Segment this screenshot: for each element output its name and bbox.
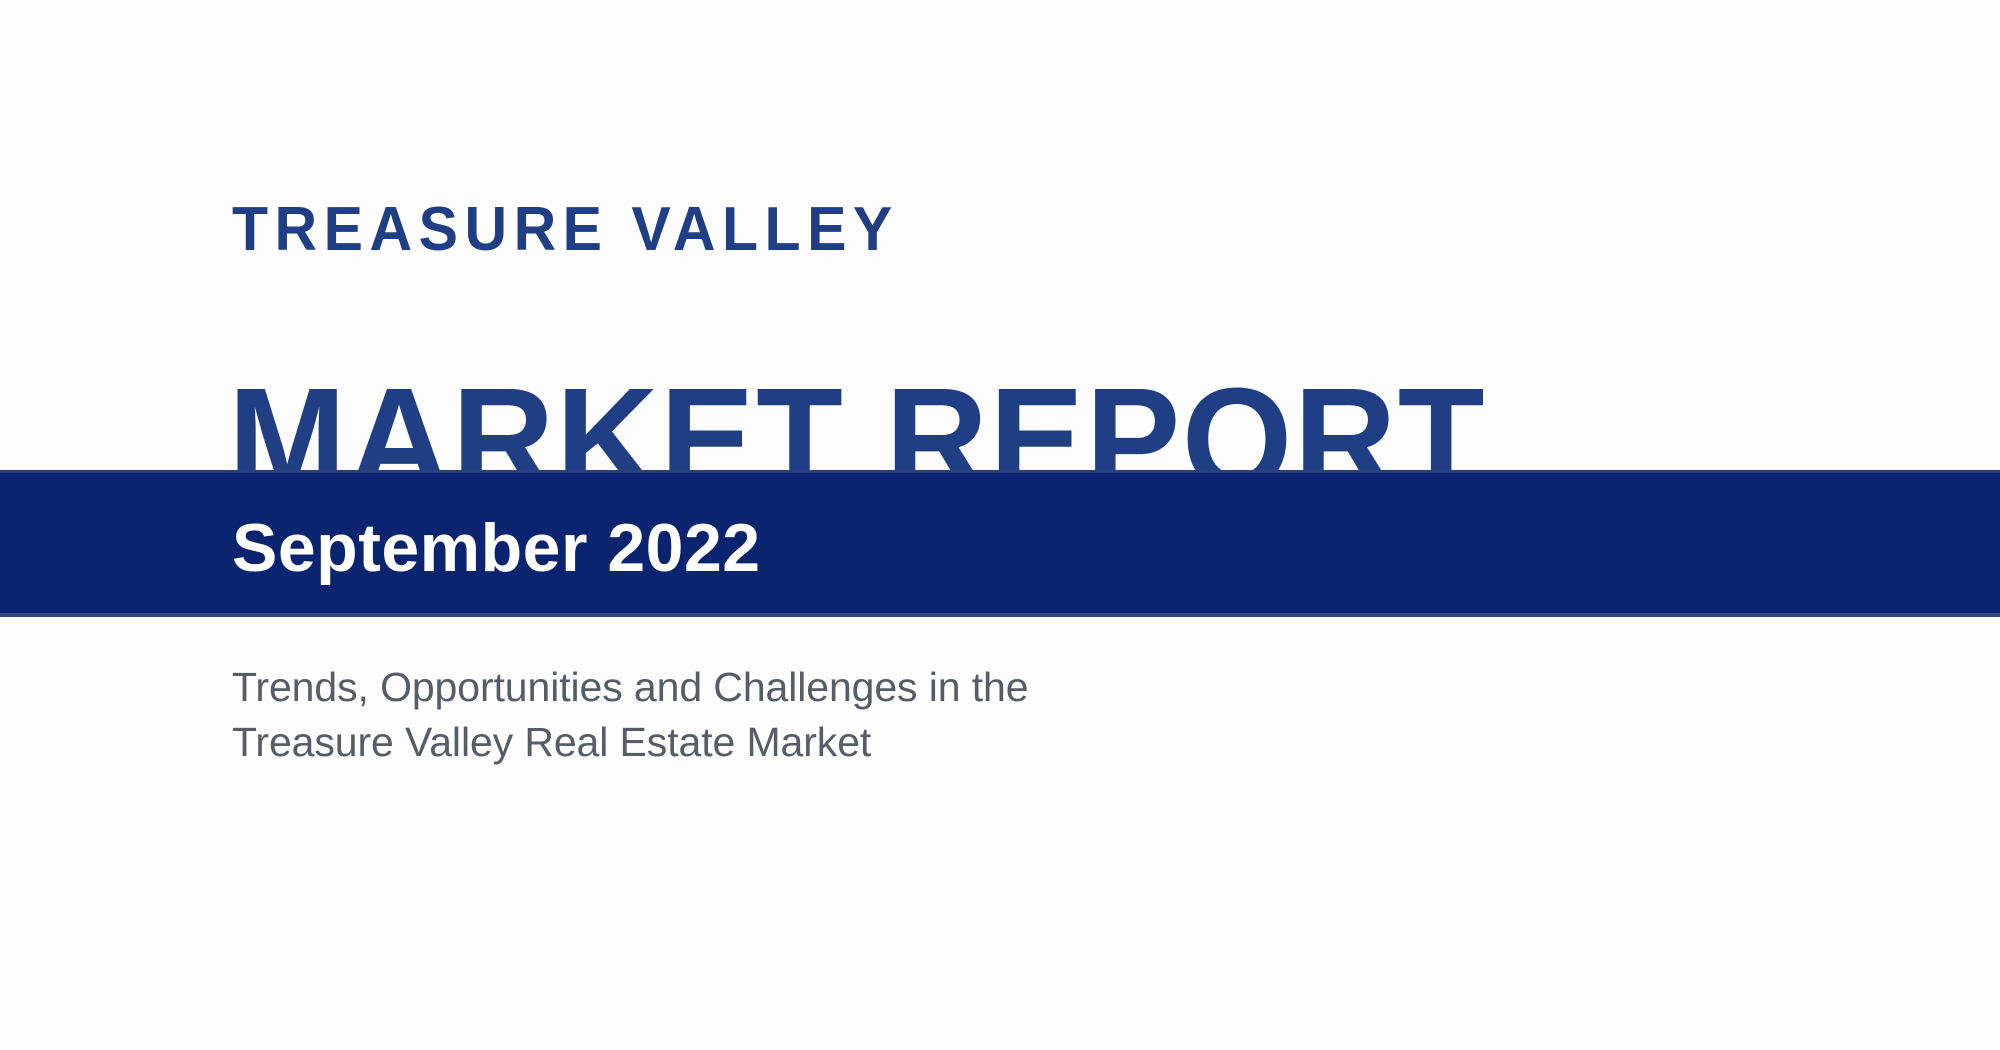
report-date-label: September 2022 (232, 514, 761, 582)
report-subtitle: Trends, Opportunities and Challenges in … (232, 660, 1332, 770)
date-band: September 2022 (0, 470, 2000, 617)
report-subtitle-line-2: Treasure Valley Real Estate Market (232, 715, 1332, 770)
report-cover-page: TREASURE VALLEY MARKET REPORT September … (0, 0, 2000, 1050)
report-kicker: TREASURE VALLEY (232, 198, 899, 261)
report-subtitle-line-1: Trends, Opportunities and Challenges in … (232, 660, 1332, 715)
